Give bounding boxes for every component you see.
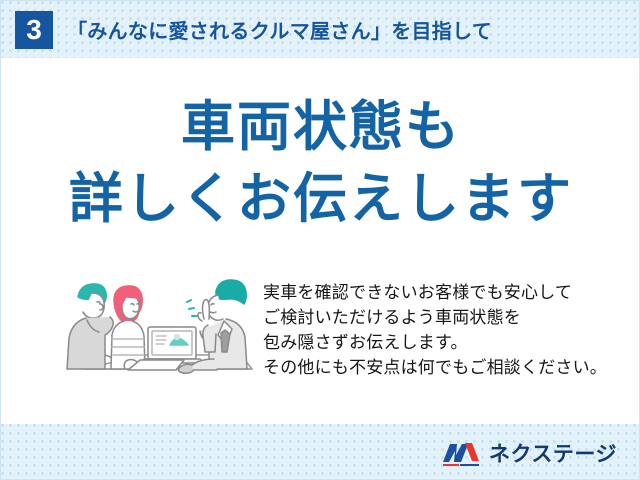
main-content: 車両状態も 詳しくお伝えします: [1, 58, 640, 424]
nextage-n-mark-icon: [441, 440, 481, 466]
headline: 車両状態も 詳しくお伝えします: [1, 96, 640, 231]
page-title: 「みんなに愛されるクルマ屋さん」を目指して: [67, 15, 492, 44]
body-line-1: 実車を確認できないお客様でも安心して: [263, 280, 623, 305]
promo-banner: 3 「みんなに愛されるクルマ屋さん」を目指して 車両状態も 詳しくお伝えします: [0, 0, 640, 480]
headline-line-1: 車両状態も: [1, 96, 640, 160]
body-line-2: ご検討いただけるよう車両状態を: [263, 305, 623, 330]
section-number-badge: 3: [15, 11, 53, 49]
header-band: 3 「みんなに愛されるクルマ屋さん」を目指して: [1, 1, 640, 58]
body-line-3: 包み隠さずお伝えします。: [263, 330, 623, 355]
consultation-illustration: [56, 271, 256, 386]
body-line-4: その他にも不安点は何でもご相談ください。: [263, 355, 623, 380]
headline-line-2: 詳しくお伝えします: [1, 168, 640, 232]
body-copy: 実車を確認できないお客様でも安心して ご検討いただけるよう車両状態を 包み隠さず…: [263, 280, 623, 380]
footer-band: ネクステージ: [1, 424, 640, 480]
nextage-logo-text: ネクステージ: [489, 438, 617, 468]
nextage-logo: ネクステージ: [441, 438, 617, 468]
